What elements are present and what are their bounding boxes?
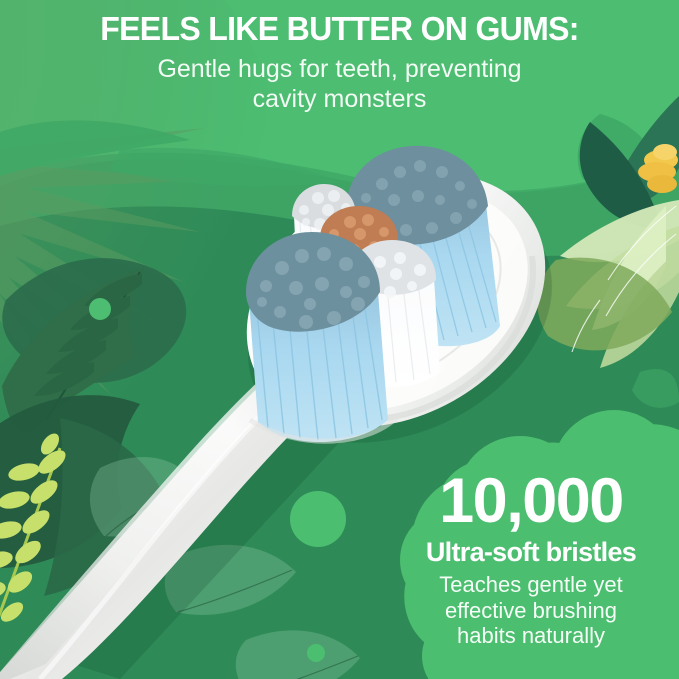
stat-callout-block: 10,000 Ultra-soft bristles Teaches gentl… <box>395 472 667 649</box>
headline-block: FEELS LIKE BUTTER ON GUMS: Gentle hugs f… <box>0 12 679 115</box>
page-title: FEELS LIKE BUTTER ON GUMS: <box>10 12 669 47</box>
stat-desc-line-1: Teaches gentle yet <box>395 572 667 598</box>
stat-description: Teaches gentle yet effective brushing ha… <box>395 572 667 649</box>
stat-desc-line-3: habits naturally <box>395 623 667 649</box>
page-subtitle: Gentle hugs for teeth, preventing cavity… <box>0 54 679 115</box>
stat-number: 10,000 <box>395 472 667 532</box>
stat-desc-line-2: effective brushing <box>395 598 667 624</box>
product-infographic: FEELS LIKE BUTTER ON GUMS: Gentle hugs f… <box>0 0 679 679</box>
tuft-front-left-blue <box>246 232 388 442</box>
subtitle-line-2: cavity monsters <box>0 84 679 115</box>
subtitle-line-1: Gentle hugs for teeth, preventing <box>0 54 679 85</box>
stat-label: Ultra-soft bristles <box>395 538 667 567</box>
